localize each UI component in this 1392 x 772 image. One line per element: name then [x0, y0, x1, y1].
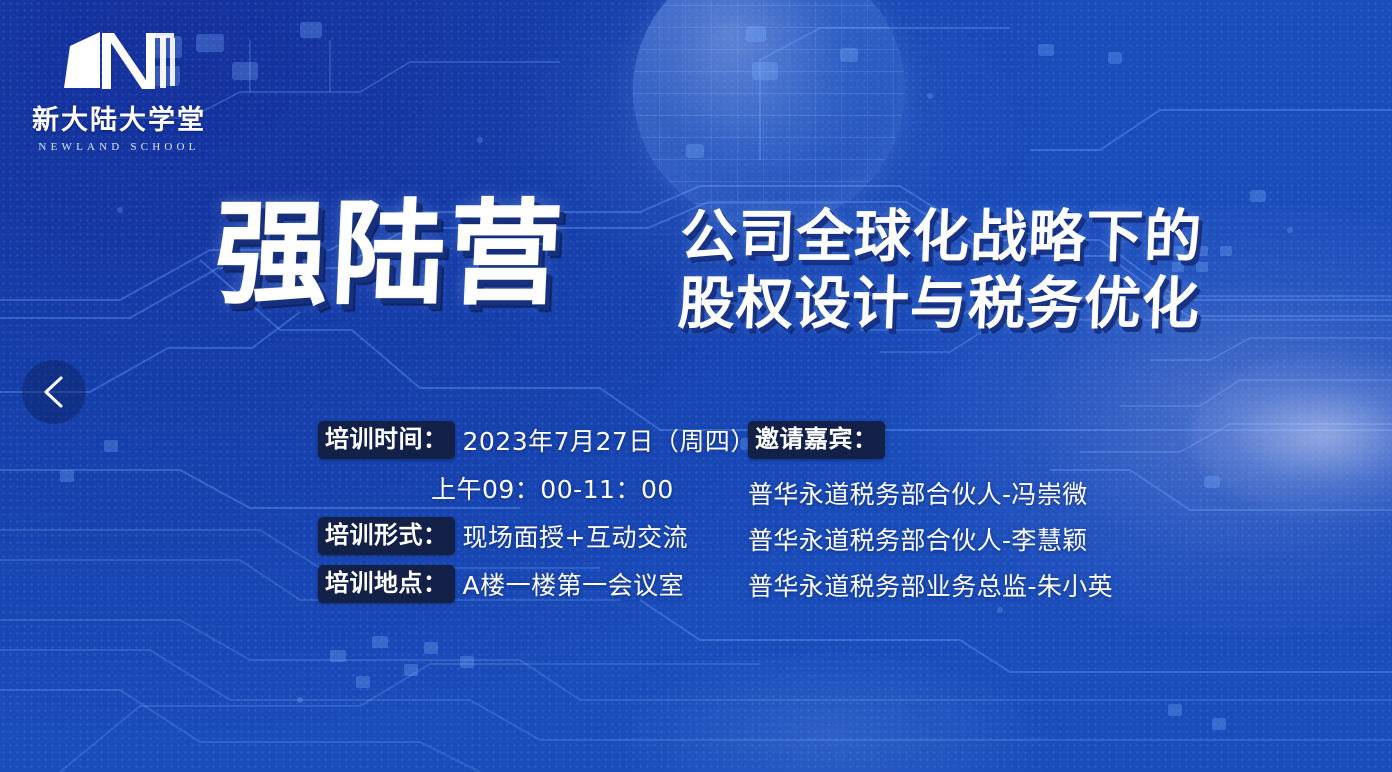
detail-row: 培训形式： 现场面授+互动交流: [318, 514, 718, 558]
detail-label: 培训形式：: [318, 517, 455, 555]
light-glow-right: [1190, 350, 1392, 520]
brand-name-en: NEWLAND SCHOOL: [24, 141, 214, 153]
detail-value: A楼一楼第一会议室: [463, 566, 685, 602]
open-book-n-icon: [24, 26, 214, 102]
detail-label: 培训地点：: [318, 565, 455, 603]
event-subtitle-line1: 公司全球化战略下的: [660, 204, 1222, 271]
event-subtitle: 公司全球化战略下的 股权设计与税务优化: [658, 204, 1223, 339]
guest-label: 邀请嘉宾：: [748, 421, 885, 459]
light-glow-bottom: [600, 640, 1060, 772]
event-title: 强陆营: [213, 198, 569, 311]
detail-row: 上午09：00-11：00: [318, 466, 718, 510]
globe-graphic: [633, 0, 905, 226]
guest-item: 普华永道税务部业务总监-朱小英: [748, 562, 1168, 608]
event-details-column: 培训时间： 2023年7月27日（周四） 上午09：00-11：00 培训形式：…: [318, 418, 718, 610]
chevron-left-icon: [41, 375, 67, 409]
detail-row: 培训时间： 2023年7月27日（周四）: [318, 418, 718, 462]
guest-list-column: 邀请嘉宾： 普华永道税务部合伙人-冯崇微 普华永道税务部合伙人-李慧颖 普华永道…: [748, 418, 1168, 608]
detail-value: 2023年7月27日（周四）: [463, 422, 756, 458]
detail-value: 上午09：00-11：00: [431, 470, 674, 506]
detail-label: 培训时间：: [318, 421, 455, 459]
event-subtitle-line2: 股权设计与税务优化: [658, 271, 1220, 338]
carousel-prev-button[interactable]: [22, 360, 86, 424]
guest-item: 普华永道税务部合伙人-冯崇微: [748, 470, 1168, 516]
guest-list-header: 邀请嘉宾：: [748, 418, 1168, 462]
guest-item: 普华永道税务部合伙人-李慧颖: [748, 516, 1168, 562]
detail-row: 培训地点： A楼一楼第一会议室: [318, 562, 718, 606]
promo-banner: 新大陆大学堂 NEWLAND SCHOOL 强陆营 公司全球化战略下的 股权设计…: [0, 0, 1392, 772]
detail-value: 现场面授+互动交流: [463, 518, 688, 554]
brand-name-cn: 新大陆大学堂: [24, 106, 214, 136]
brand-logo[interactable]: 新大陆大学堂 NEWLAND SCHOOL: [24, 26, 214, 153]
headline-block: 强陆营 公司全球化战略下的 股权设计与税务优化: [0, 196, 1392, 356]
